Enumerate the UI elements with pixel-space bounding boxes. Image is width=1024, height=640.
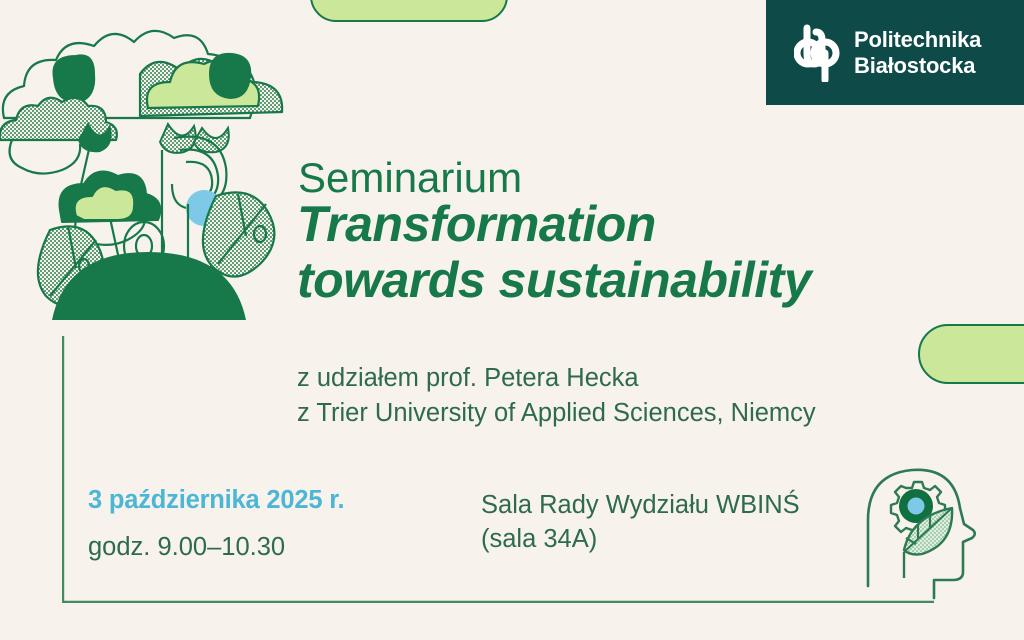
event-venue: Sala Rady Wydziału WBINŚ (sala 34A) <box>481 489 800 557</box>
event-time: godz. 9.00–10.30 <box>88 533 285 562</box>
university-logo-text: Politechnika Białostocka <box>854 27 981 78</box>
event-kicker: Seminarium <box>298 157 522 199</box>
event-date: 3 października 2025 r. <box>88 486 344 515</box>
university-logo: Politechnika Białostocka <box>766 0 1024 105</box>
tree-and-clouds-illustration <box>0 18 298 340</box>
event-subtitle: z udziałem prof. Petera Hecka z Trier Un… <box>297 361 816 431</box>
head-gear-leaf-icon <box>860 458 1020 608</box>
right-green-pill <box>918 324 1024 384</box>
top-green-pill <box>310 0 508 22</box>
poster-canvas: Politechnika Białostocka Seminarium Tran… <box>0 0 1024 640</box>
page-title: Transformation towards sustainability <box>297 196 811 308</box>
politechnika-bialostocka-monogram-icon <box>794 24 840 82</box>
gear-hub-center <box>908 498 925 515</box>
